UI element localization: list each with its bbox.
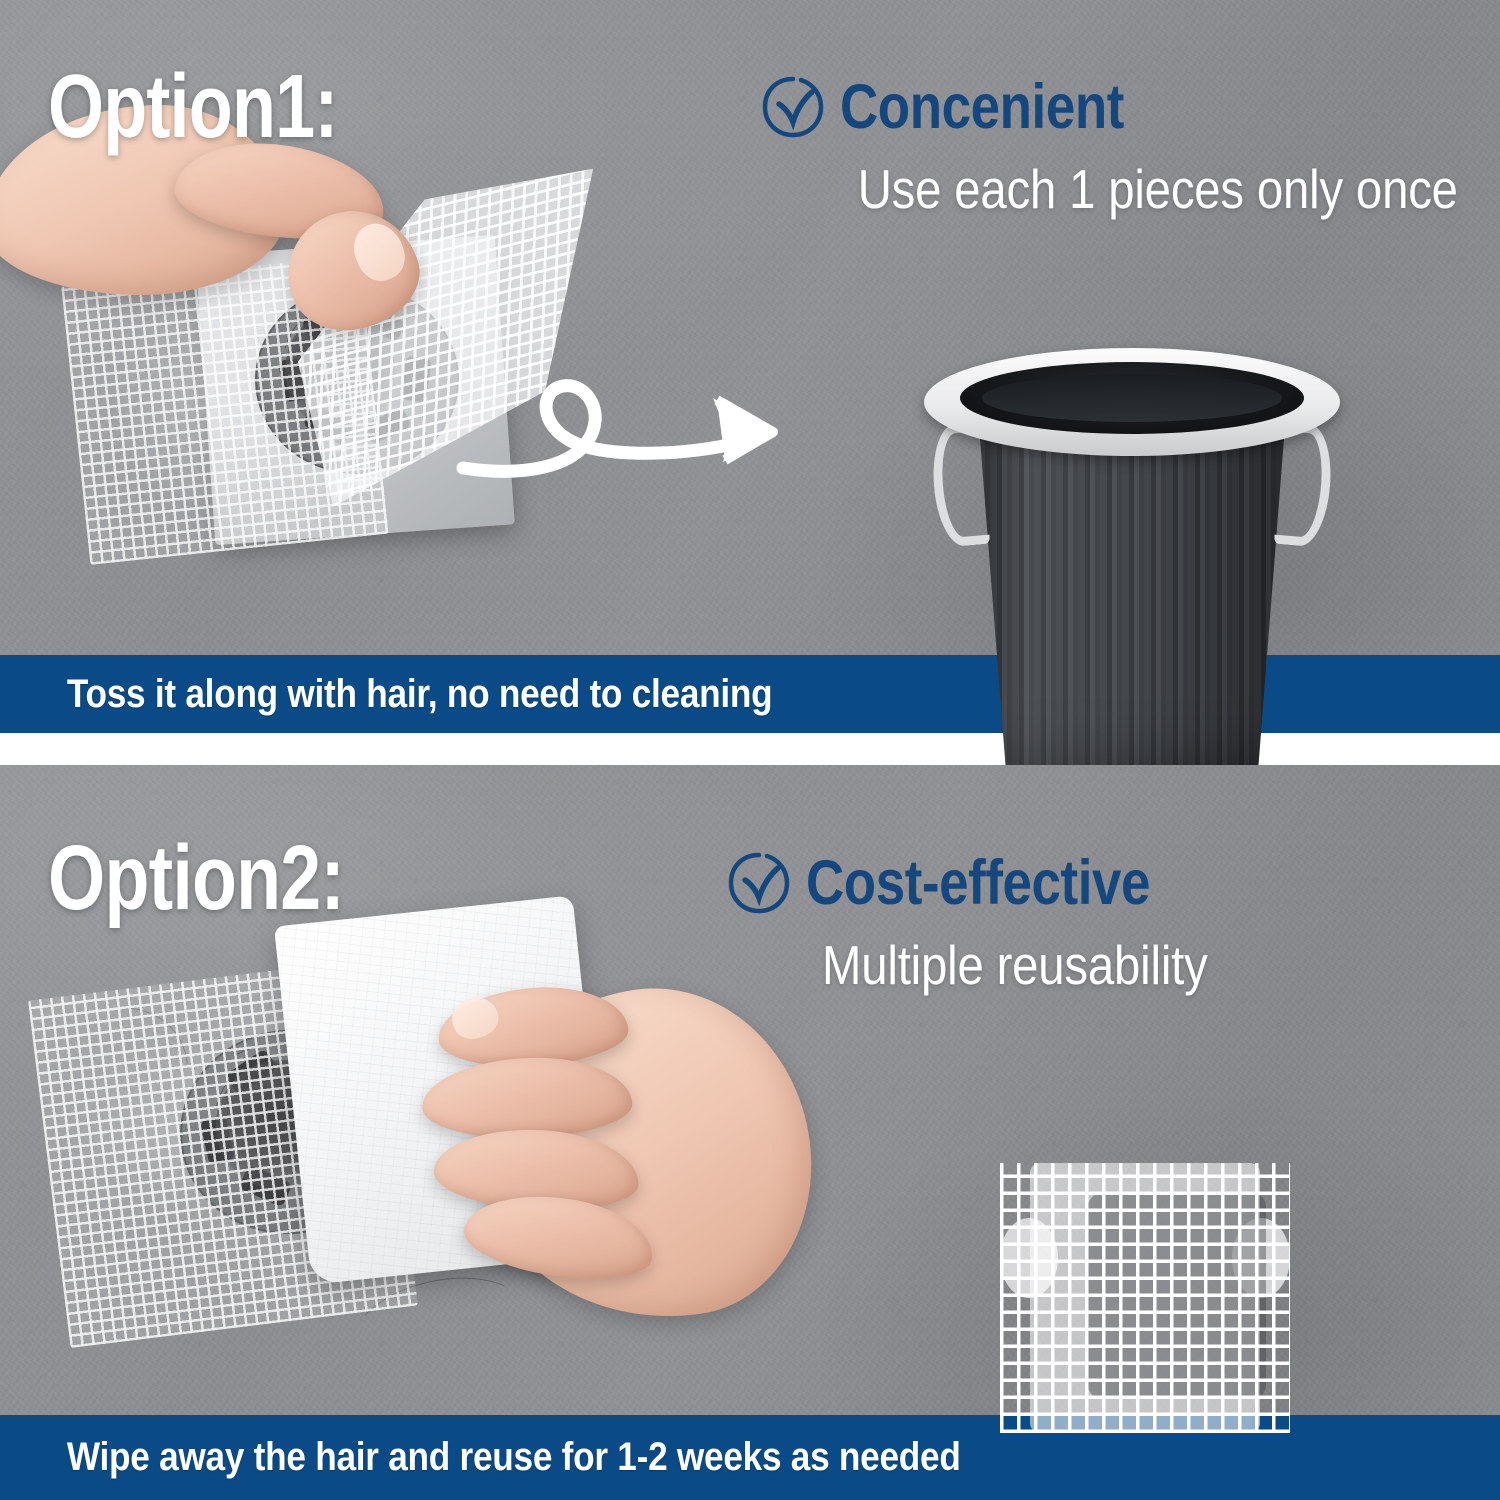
product-mesh-grid <box>1000 1163 1290 1433</box>
option2-photo-wipe <box>30 920 790 1420</box>
trash-can-opening-inner <box>982 374 1282 422</box>
circle-check-icon <box>726 850 792 916</box>
option1-feature-subtitle: Use each 1 pieces only once <box>858 162 1458 217</box>
option2-feature-heading: Cost-effective <box>726 850 1270 916</box>
trash-can-handle-left <box>929 422 990 548</box>
option2-panel: Option2: Cost-effective Multiple reusabi… <box>0 765 1500 1500</box>
curved-loop-arrow-right-icon <box>455 350 875 510</box>
option1-feature-heading: Concenient <box>760 74 1458 140</box>
product-mesh-filter-pad <box>1000 1163 1290 1433</box>
option1-feature-block: Concenient Use each 1 pieces only once <box>760 74 1458 217</box>
trash-can <box>912 340 1352 765</box>
hand-pinching <box>55 115 475 415</box>
option2-feature-subtitle: Multiple reusability <box>822 938 1208 993</box>
option1-banner-text: Toss it along with hair, no need to clea… <box>0 672 772 717</box>
option2-label: Option2: <box>48 832 344 924</box>
option1-label: Option1: <box>48 62 338 152</box>
option2-banner-text: Wipe away the hair and reuse for 1-2 wee… <box>0 1435 961 1480</box>
circle-check-icon <box>760 74 826 140</box>
infographic-page: Option1: Concenient Use each 1 pieces on… <box>0 0 1500 1500</box>
option2-feature-block: Cost-effective Multiple reusability <box>726 850 1270 993</box>
option2-feature-title: Cost-effective <box>806 852 1150 915</box>
trash-can-handle-right <box>1274 422 1335 548</box>
option1-feature-title: Concenient <box>840 76 1124 139</box>
hand-wiping <box>360 940 830 1390</box>
